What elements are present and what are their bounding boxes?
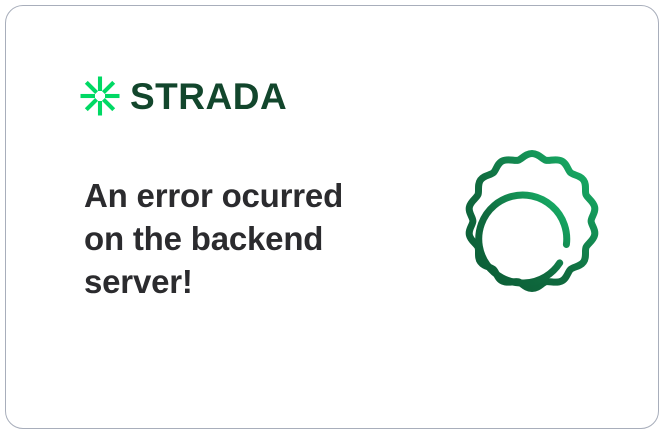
screen: STRADA An error ocurred on the backend s… xyxy=(0,0,666,436)
gear-cog-icon xyxy=(450,143,614,307)
brand-wordmark: STRADA xyxy=(130,78,287,115)
error-message: An error ocurred on the backend server! xyxy=(84,174,384,303)
brand-lockup: STRADA xyxy=(79,72,287,120)
strada-asterisk-icon xyxy=(79,75,121,117)
error-card: STRADA An error ocurred on the backend s… xyxy=(5,5,659,429)
